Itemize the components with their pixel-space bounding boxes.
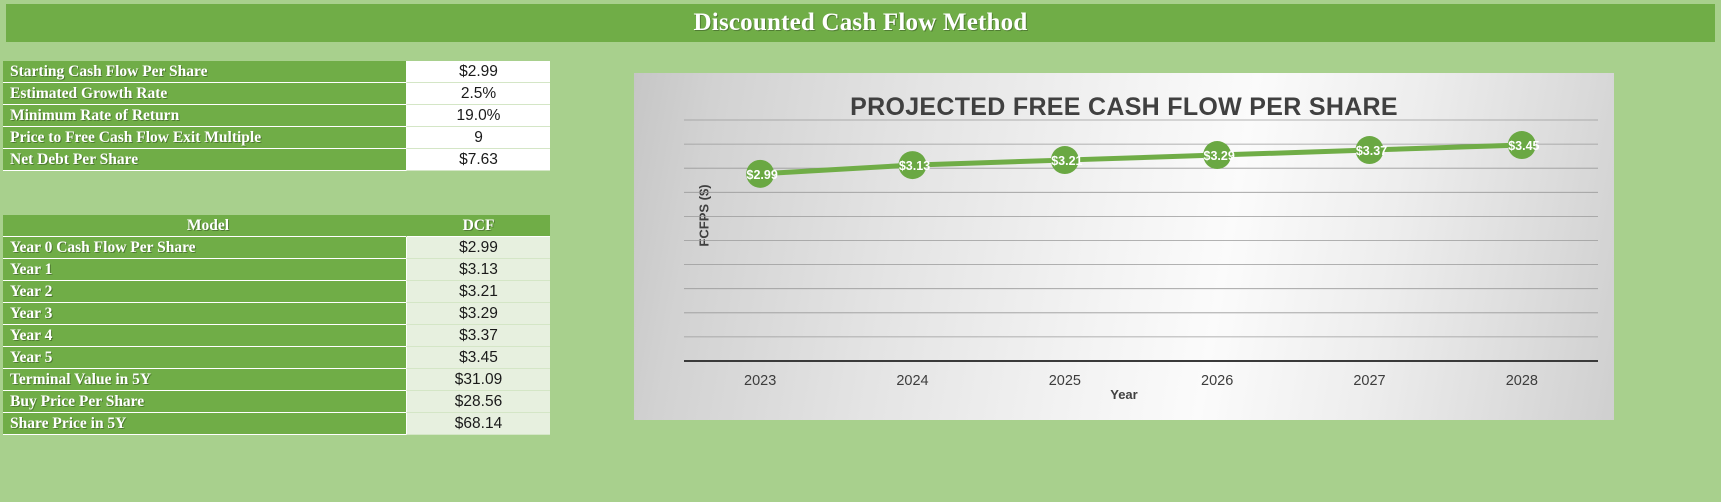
x-axis-tick: 2028 xyxy=(1506,373,1538,389)
row-value: 9 xyxy=(406,127,550,149)
page-title-bar: Discounted Cash Flow Method xyxy=(6,4,1715,42)
series-line xyxy=(760,145,1522,174)
data-point-label: $3.29 xyxy=(1204,149,1235,163)
data-point-label: $3.21 xyxy=(1051,154,1082,168)
row-label: Starting Cash Flow Per Share xyxy=(3,61,406,83)
row-label: Estimated Growth Rate xyxy=(3,83,406,105)
dcf-model-table-head: Model DCF xyxy=(3,215,550,237)
row-value: $3.21 xyxy=(406,281,550,303)
table-row: Year 4$3.37 xyxy=(3,325,550,347)
chart-panel: PROJECTED FREE CASH FLOW PER SHARE FCFPS… xyxy=(634,73,1614,420)
row-label: Year 3 xyxy=(3,303,406,325)
table-row: Share Price in 5Y$68.14 xyxy=(3,413,550,435)
table-row: Buy Price Per Share$28.56 xyxy=(3,391,550,413)
table-row: Year 1$3.13 xyxy=(3,259,550,281)
table-row: Terminal Value in 5Y$31.09 xyxy=(3,369,550,391)
row-label: Year 5 xyxy=(3,347,406,369)
row-label: Terminal Value in 5Y xyxy=(3,369,406,391)
row-label: Year 0 Cash Flow Per Share xyxy=(3,237,406,259)
row-value: $3.29 xyxy=(406,303,550,325)
data-point-label: $2.99 xyxy=(747,168,778,182)
table-row: Price to Free Cash Flow Exit Multiple9 xyxy=(3,127,550,149)
assumptions-table-body: Starting Cash Flow Per Share$2.99Estimat… xyxy=(3,61,550,171)
x-axis-tick: 2025 xyxy=(1049,373,1081,389)
x-axis-tick: 2026 xyxy=(1201,373,1233,389)
row-value: $28.56 xyxy=(406,391,550,413)
row-value: $3.45 xyxy=(406,347,550,369)
row-label: Price to Free Cash Flow Exit Multiple xyxy=(3,127,406,149)
table-row: Year 0 Cash Flow Per Share$2.99 xyxy=(3,237,550,259)
row-label: Year 1 xyxy=(3,259,406,281)
page-title: Discounted Cash Flow Method xyxy=(694,9,1028,37)
model-column-header: Model xyxy=(3,215,406,237)
table-header-row: Model DCF xyxy=(3,215,550,237)
x-axis-tick: 2024 xyxy=(896,373,928,389)
row-label: Year 2 xyxy=(3,281,406,303)
row-label: Minimum Rate of Return xyxy=(3,105,406,127)
row-value: $3.13 xyxy=(406,259,550,281)
row-label: Year 4 xyxy=(3,325,406,347)
assumptions-table: Starting Cash Flow Per Share$2.99Estimat… xyxy=(3,61,550,171)
table-row: Estimated Growth Rate2.5% xyxy=(3,83,550,105)
row-value: $2.99 xyxy=(406,237,550,259)
line-chart-plot: $2.99$3.13$3.21$3.29$3.37$3.45 xyxy=(634,73,1614,420)
row-label: Buy Price Per Share xyxy=(3,391,406,413)
table-row: Net Debt Per Share$7.63 xyxy=(3,149,550,171)
row-value: $2.99 xyxy=(406,61,550,83)
dcf-model-table-body: Year 0 Cash Flow Per Share$2.99Year 1$3.… xyxy=(3,237,550,435)
table-row: Minimum Rate of Return19.0% xyxy=(3,105,550,127)
x-axis-tick: 2023 xyxy=(744,373,776,389)
dcf-model-table: Model DCF Year 0 Cash Flow Per Share$2.9… xyxy=(3,215,550,435)
row-value: 2.5% xyxy=(406,83,550,105)
table-row: Year 5$3.45 xyxy=(3,347,550,369)
row-value: $3.37 xyxy=(406,325,550,347)
row-value: 19.0% xyxy=(406,105,550,127)
data-point-label: $3.37 xyxy=(1356,144,1387,158)
row-label: Net Debt Per Share xyxy=(3,149,406,171)
row-label: Share Price in 5Y xyxy=(3,413,406,435)
dcf-column-header: DCF xyxy=(406,215,550,237)
table-row: Year 3$3.29 xyxy=(3,303,550,325)
row-value: $68.14 xyxy=(406,413,550,435)
row-value: $7.63 xyxy=(406,149,550,171)
data-point-label: $3.45 xyxy=(1508,139,1539,153)
table-row: Starting Cash Flow Per Share$2.99 xyxy=(3,61,550,83)
table-row: Year 2$3.21 xyxy=(3,281,550,303)
data-point-label: $3.13 xyxy=(899,159,930,173)
row-value: $31.09 xyxy=(406,369,550,391)
x-axis-tick: 2027 xyxy=(1353,373,1385,389)
